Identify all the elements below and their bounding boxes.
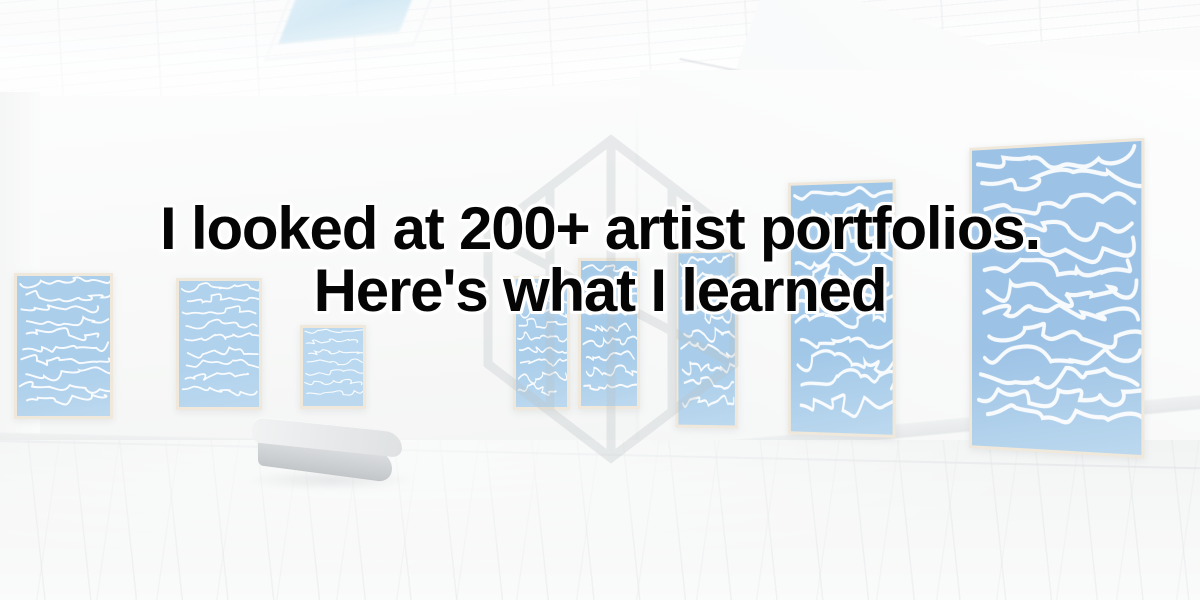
artwork-frame [578, 258, 640, 409]
artwork-8 [969, 138, 1144, 459]
artwork-6 [675, 249, 737, 428]
gallery-bench [252, 424, 402, 486]
hero-banner: I looked at 200+ artist portfolios. Here… [0, 0, 1200, 600]
artwork-1 [14, 273, 113, 419]
artwork-frame [969, 138, 1144, 459]
artwork-frame [14, 273, 113, 419]
artwork-7 [788, 179, 896, 438]
artwork-frame [788, 179, 896, 438]
artwork-2 [176, 278, 262, 410]
artwork-frame [513, 276, 570, 410]
floor-light-sheen [0, 440, 1200, 600]
artwork-4 [513, 276, 570, 410]
artwork-frame [176, 278, 262, 410]
artwork-frame [300, 325, 366, 409]
artwork-frame [675, 249, 737, 428]
artwork-3 [300, 325, 366, 409]
artwork-5 [578, 258, 640, 409]
